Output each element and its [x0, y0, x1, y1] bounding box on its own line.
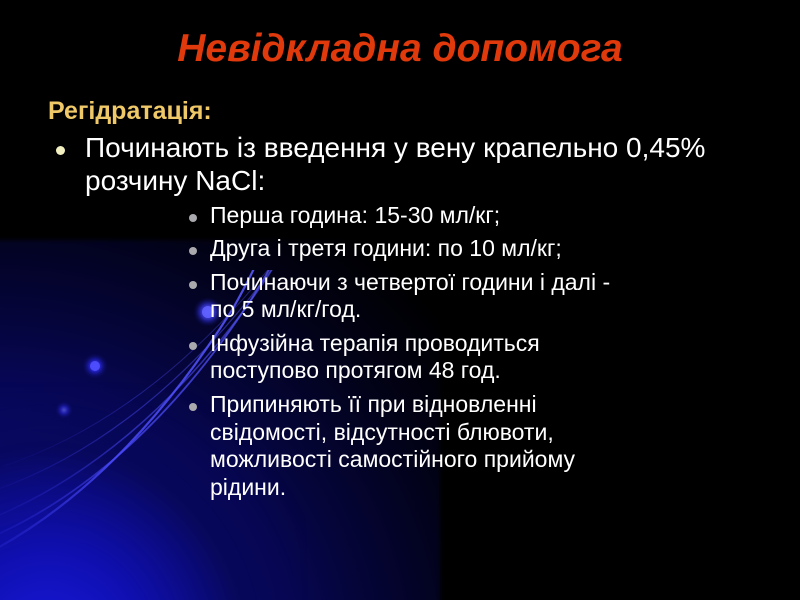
- bullet-item-level2: Інфузійна терапія проводиться поступово …: [85, 330, 710, 385]
- bullet-item-level2: Перша година: 15-30 мл/кг;: [85, 202, 710, 230]
- dot-bullet-icon: [189, 214, 197, 222]
- bullet-list-level2: Перша година: 15-30 мл/кг; Друга і третя…: [85, 202, 710, 502]
- bullet-list-level1: Починають із введення у вену крапельно 0…: [0, 132, 800, 501]
- bullet-item-level1: Починають із введення у вену крапельно 0…: [0, 132, 800, 501]
- bullet-text: Друга і третя години: по 10 мл/кг;: [210, 235, 562, 261]
- dot-bullet-icon: [189, 281, 197, 289]
- bullet-text: Починаючи з четвертої години і далі - по…: [210, 269, 610, 323]
- bullet-item-level2: Припиняють її при відновленні свідомості…: [85, 391, 710, 501]
- bullet-item-level2: Друга і третя години: по 10 мл/кг;: [85, 235, 710, 263]
- dot-bullet-icon: [56, 146, 65, 155]
- bullet-text: Інфузійна терапія проводиться поступово …: [210, 330, 540, 384]
- section-subheading: Регідратація:: [48, 96, 800, 126]
- dot-bullet-icon: [189, 342, 197, 350]
- slide-body: Регідратація: Починають із введення у ве…: [0, 96, 800, 507]
- presentation-slide: Невідкладна допомога Регідратація: Почин…: [0, 0, 800, 600]
- bullet-item-level2: Починаючи з четвертої години і далі - по…: [85, 269, 710, 324]
- bullet-text: Перша година: 15-30 мл/кг;: [210, 202, 500, 228]
- bullet-text: Припиняють її при відновленні свідомості…: [210, 391, 575, 500]
- dot-bullet-icon: [189, 403, 197, 411]
- dot-bullet-icon: [189, 247, 197, 255]
- bullet-text: Починають із введення у вену крапельно 0…: [85, 132, 705, 196]
- slide-title: Невідкладна допомога: [0, 28, 800, 71]
